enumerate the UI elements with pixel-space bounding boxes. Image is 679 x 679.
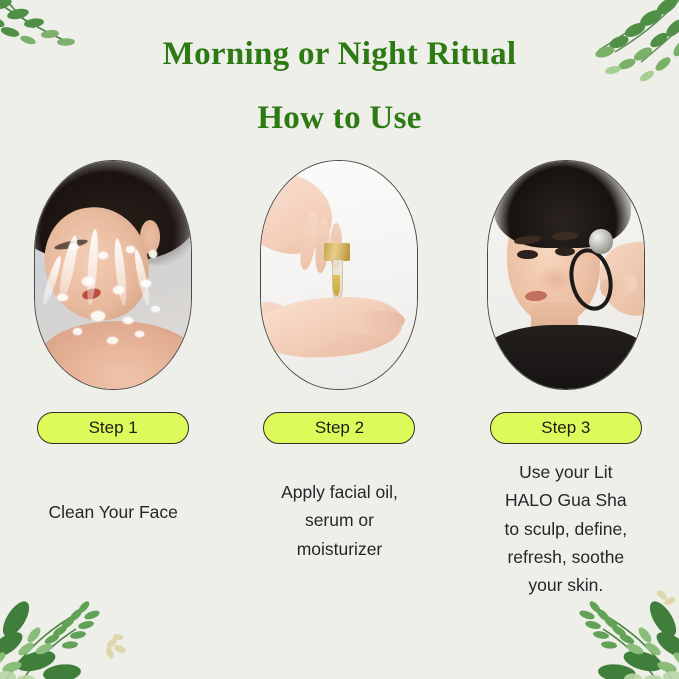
flower-accent (105, 633, 127, 660)
step-2-badge[interactable]: Step 2 (263, 412, 415, 444)
step-column-3: Step 3 Use your Lit HALO Gua Sha to scul… (453, 160, 679, 600)
page-title: Morning or Night Ritual How to Use (0, 38, 679, 135)
step-column-1: Step 1 Clean Your Face (0, 160, 226, 600)
title-line-1: Morning or Night Ritual (0, 38, 679, 71)
step-2-photo (260, 160, 418, 390)
step-3-caption: Use your Lit HALO Gua Sha to sculp, defi… (471, 458, 661, 600)
step-3-photo (487, 160, 645, 390)
step-1-photo (34, 160, 192, 390)
poster-canvas: Morning or Night Ritual How to Use (0, 0, 679, 679)
step-1-badge[interactable]: Step 1 (37, 412, 189, 444)
step-2-caption: Apply facial oil, serum or moisturizer (244, 478, 434, 563)
photo-dropper-palm-icon (261, 161, 417, 389)
step-column-2: Step 2 Apply facial oil, serum or moistu… (226, 160, 452, 600)
title-line-2: How to Use (0, 102, 679, 135)
photo-wash-face-icon (35, 161, 191, 389)
photo-gua-sha-icon (488, 161, 644, 389)
step-3-badge[interactable]: Step 3 (490, 412, 642, 444)
steps-row: Step 1 Clean Your Face (0, 160, 679, 600)
step-1-caption: Clean Your Face (18, 498, 208, 526)
